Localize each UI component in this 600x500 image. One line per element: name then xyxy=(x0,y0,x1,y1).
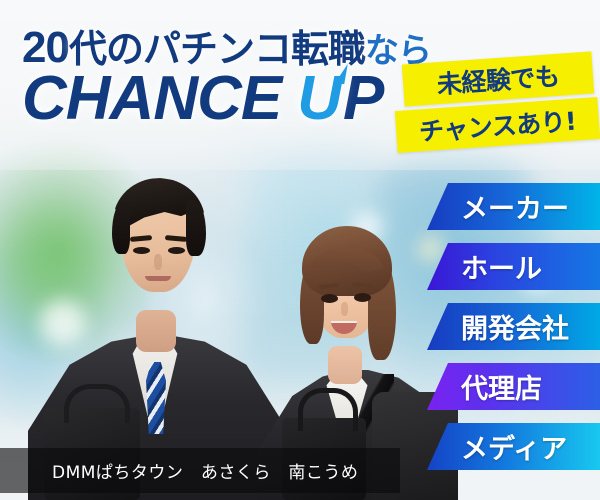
male-mouth xyxy=(145,276,171,281)
category-label: メーカー xyxy=(461,187,569,226)
male-eye-right xyxy=(168,247,185,254)
category-label: ホール xyxy=(461,247,542,286)
chance-up-logo: CHANCE U P xyxy=(22,68,384,130)
caption-bar: DMMぱちタウン あさくら 南こうめ xyxy=(0,448,400,493)
caption-text: DMMぱちタウン あさくら 南こうめ xyxy=(52,458,358,483)
category-label: 代理店 xyxy=(461,367,542,406)
female-eye-left xyxy=(321,294,338,303)
male-eye-left xyxy=(133,247,150,254)
category-label: 開発会社 xyxy=(461,307,569,346)
recruitment-banner: 20 代のパチンコ転職 なら CHANCE U P 未経験でも チャンスあり! … xyxy=(0,0,600,500)
logo-u-group: U xyxy=(297,68,342,130)
category-button-hall[interactable]: ホール xyxy=(427,243,600,290)
male-nose xyxy=(154,254,162,270)
category-button-agency[interactable]: 代理店 xyxy=(427,363,600,410)
category-button-maker[interactable]: メーカー xyxy=(427,183,600,230)
category-label: メディア xyxy=(461,427,567,466)
female-eye-right xyxy=(354,293,371,302)
male-striped-necktie xyxy=(146,362,166,434)
badge-label: チャンスあり! xyxy=(418,102,577,149)
female-neck xyxy=(328,346,362,384)
category-button-media[interactable]: メディア xyxy=(427,423,600,470)
female-nose xyxy=(341,302,348,316)
male-neck xyxy=(136,310,176,352)
male-hair-side-left xyxy=(112,202,130,254)
logo-p-letter: P xyxy=(343,68,384,130)
logo-chance-text: CHANCE xyxy=(22,68,281,130)
category-button-development-company[interactable]: 開発会社 xyxy=(427,303,600,350)
badge-label: 未経験でも xyxy=(436,57,561,101)
